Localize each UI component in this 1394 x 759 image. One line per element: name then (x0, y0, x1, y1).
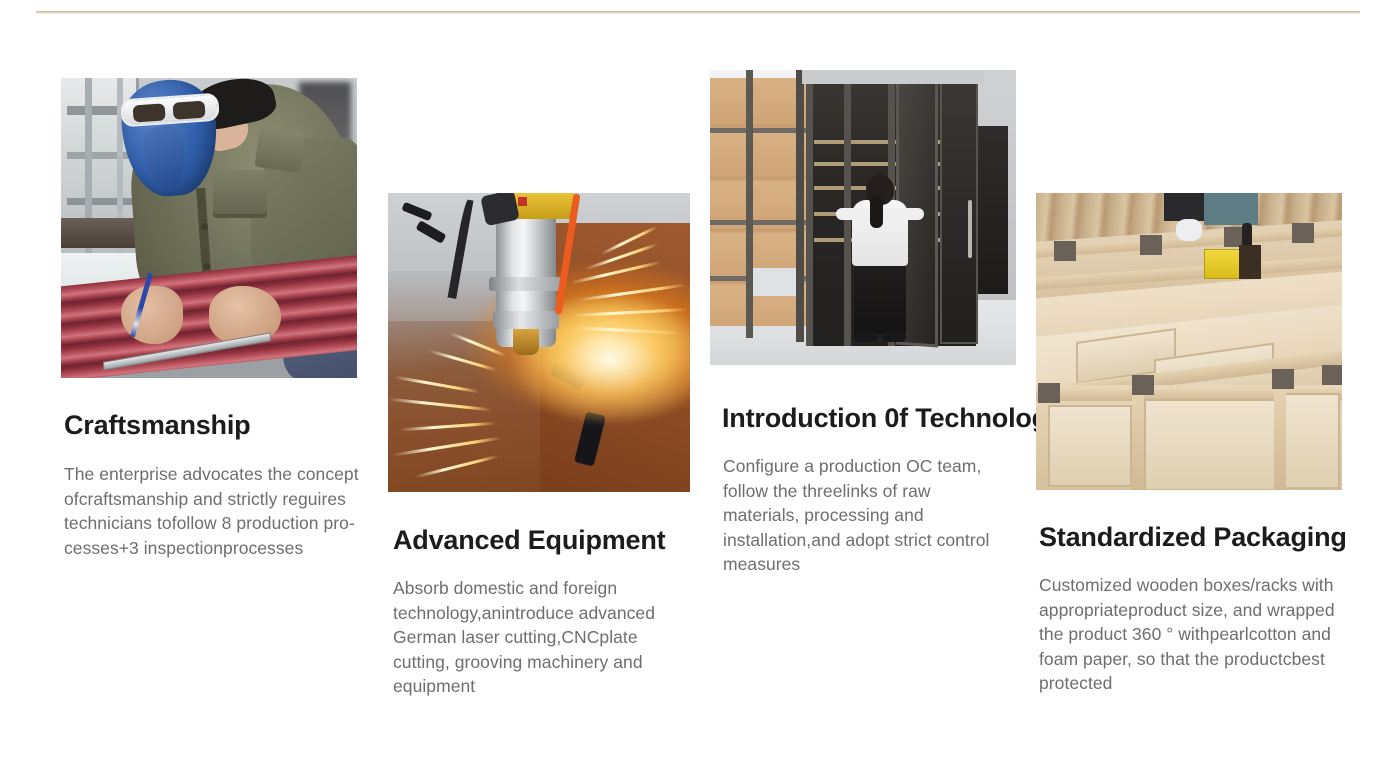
feature-card-equipment: Advanced Equipment Absorb domestic and f… (388, 193, 718, 699)
card-title-craftsmanship: Craftsmanship (64, 410, 391, 441)
card-body-craftsmanship: The enterprise advocates the concept ofc… (64, 462, 359, 560)
feature-showcase-page: Craftsmanship The enterprise advocates t… (0, 0, 1394, 759)
feature-card-packaging: Standardized Packaging Customized wooden… (1036, 193, 1376, 696)
feature-card-craftsmanship: Craftsmanship The enterprise advocates t… (61, 78, 391, 560)
card-title-technology: Introduction 0f Technology (722, 403, 1040, 434)
showroom-doors-installation-photo (710, 70, 1016, 365)
feature-card-technology: Introduction 0f Technology Configure a p… (710, 70, 1040, 577)
card-body-equipment: Absorb domestic and foreign technology,a… (393, 576, 693, 699)
laser-cutting-sparks-photo (388, 193, 690, 492)
card-title-packaging: Standardized Packaging (1039, 522, 1376, 553)
worker-marking-metal-sheet-photo (61, 78, 357, 378)
card-title-equipment: Advanced Equipment (393, 525, 718, 556)
card-body-packaging: Customized wooden boxes/racks with appro… (1039, 573, 1344, 696)
top-divider-rule (36, 11, 1360, 14)
card-body-technology: Configure a production OC team, follow t… (723, 454, 1009, 577)
wooden-crates-warehouse-photo (1036, 193, 1342, 490)
